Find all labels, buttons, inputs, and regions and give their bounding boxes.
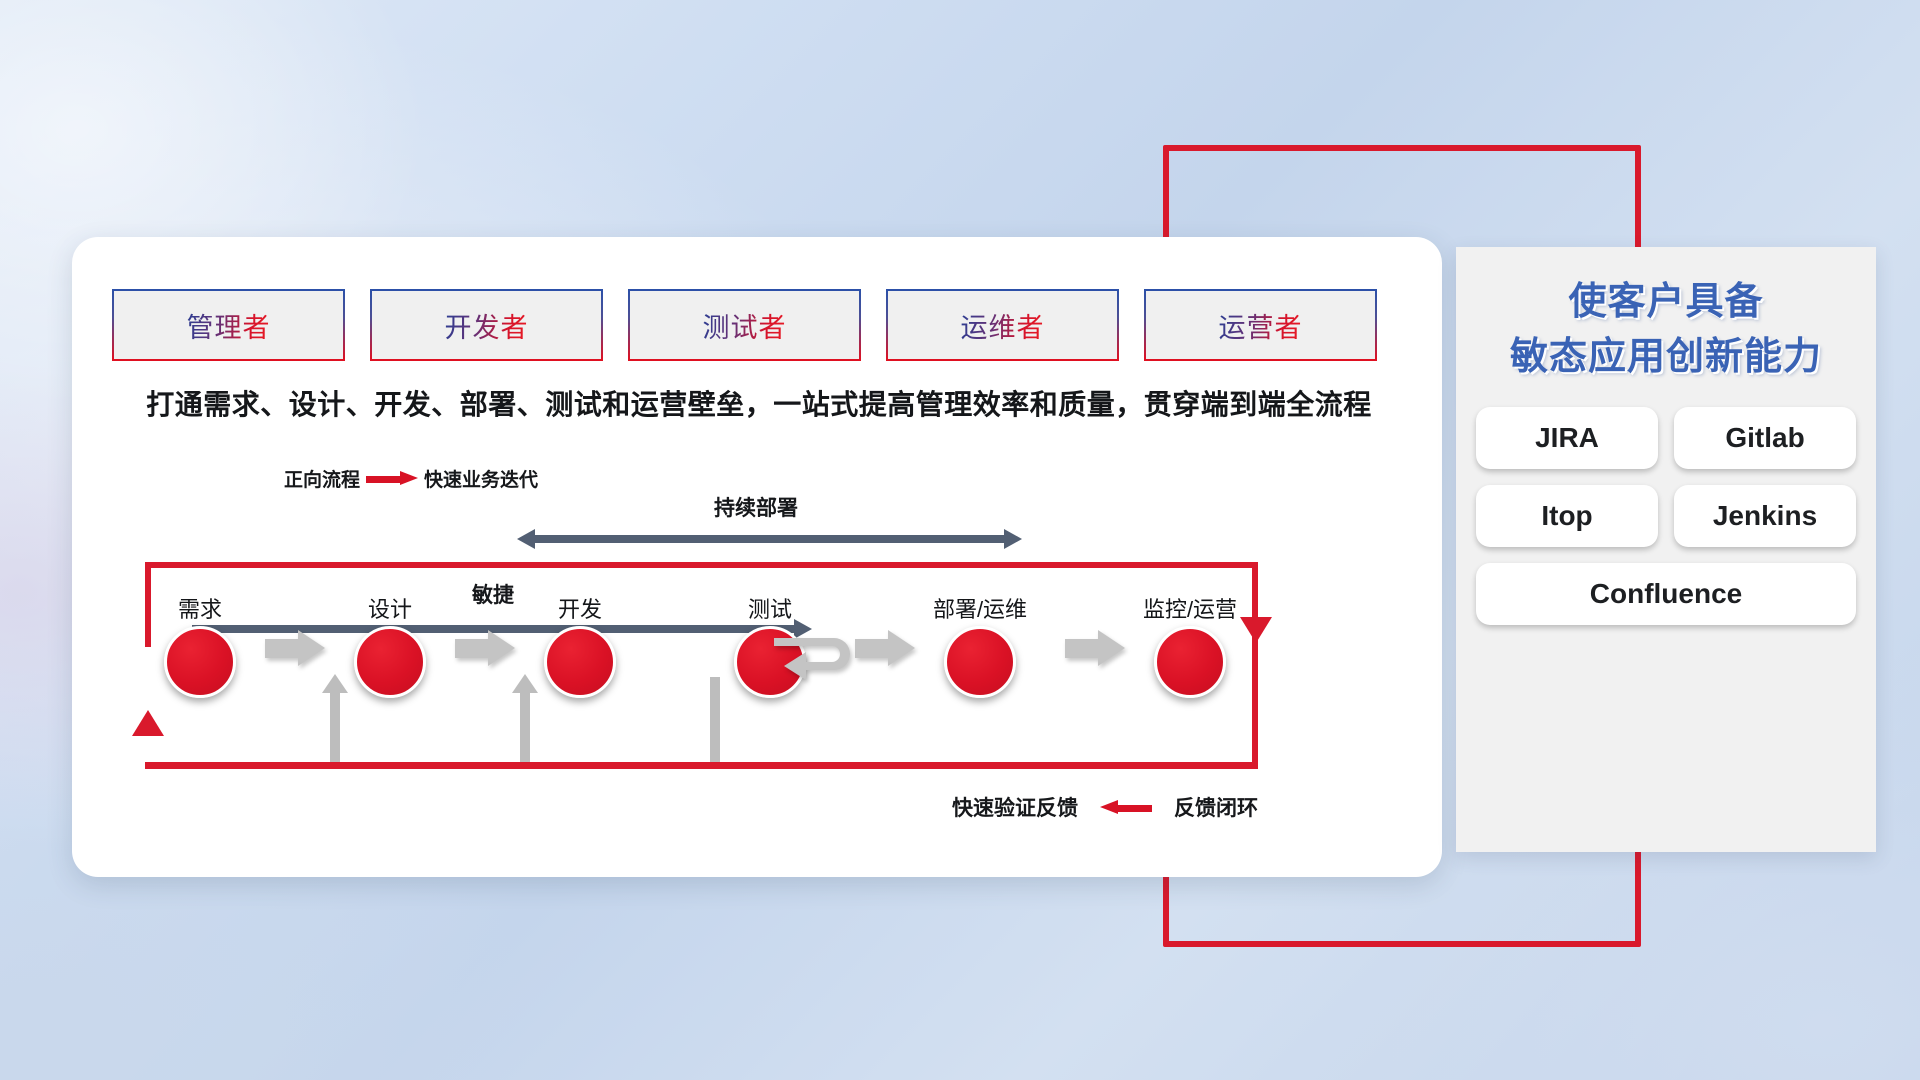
arrow-head — [488, 630, 515, 666]
stage-label: 测试 — [710, 592, 830, 624]
arrow-head-right-icon — [1004, 529, 1022, 549]
stage-dot — [164, 626, 236, 698]
legend-forward-flow: 正向流程 快速业务迭代 — [284, 465, 538, 492]
loopback-arrow-icon — [772, 626, 864, 688]
stage-label: 需求 — [140, 592, 260, 624]
arrow-shaft — [533, 535, 1006, 543]
arrow-head — [888, 630, 915, 666]
stage-requirement[interactable]: 需求 — [140, 592, 260, 698]
role-box-tester[interactable]: 测试者 — [628, 289, 861, 361]
span-label-continuous-deployment: 持续部署 — [714, 492, 798, 522]
arrow-head — [298, 630, 325, 666]
stage-design[interactable]: 设计 — [330, 592, 450, 698]
headline-text: 打通需求、设计、开发、部署、测试和运营壁垒，一站式提高管理效率和质量，贯穿端到端… — [114, 383, 1404, 423]
flow-arrow-5-icon — [1065, 630, 1129, 668]
tool-chip-jenkins[interactable]: Jenkins — [1674, 485, 1856, 547]
role-label: 运维者 — [961, 306, 1045, 345]
role-box-ops[interactable]: 运维者 — [886, 289, 1119, 361]
legend-forward-left-label: 正向流程 — [284, 465, 360, 492]
stage-monitor-operations[interactable]: 监控/运营 — [1130, 592, 1250, 698]
stage-dot — [1154, 626, 1226, 698]
arrow-right-icon — [366, 471, 418, 486]
process-loop-top-line — [145, 562, 1258, 568]
flow-arrow-1-icon — [265, 630, 329, 668]
arrow-shaft — [455, 639, 491, 658]
process-loop-bottom-line — [145, 762, 1258, 769]
legend-forward-right-label: 快速业务迭代 — [424, 465, 538, 492]
tool-chip-gitlab[interactable]: Gitlab — [1674, 407, 1856, 469]
legend-feedback-right-label: 反馈闭环 — [1174, 792, 1258, 822]
role-label: 运营者 — [1219, 306, 1303, 345]
stage-develop[interactable]: 开发 — [520, 592, 640, 698]
panel-title-line1: 使客户具备 — [1456, 275, 1876, 330]
stage-label: 部署/运维 — [920, 592, 1040, 624]
legend-feedback-loop: 快速验证反馈 反馈闭环 — [952, 792, 1258, 822]
value-proposition-panel: 使客户具备 敏态应用创新能力 JIRA Gitlab Itop Jenkins … — [1456, 247, 1876, 852]
arrow-shaft — [265, 639, 301, 658]
role-label: 开发者 — [445, 306, 529, 345]
stage-label: 开发 — [520, 592, 640, 624]
role-label: 管理者 — [187, 306, 271, 345]
span-arrow-continuous-deployment — [517, 529, 1022, 549]
panel-title-line2: 敏态应用创新能力 — [1456, 330, 1876, 385]
arrow-left-icon — [1100, 800, 1152, 815]
tool-chip-confluence[interactable]: Confluence — [1476, 563, 1856, 625]
main-diagram-card: 管理者 开发者 测试者 运维者 运营者 打通需求、设计、开发、部署、测试和运营壁… — [72, 237, 1442, 877]
tool-chip-itop[interactable]: Itop — [1476, 485, 1658, 547]
arrow-shaft — [1065, 639, 1101, 658]
stage-deploy-ops[interactable]: 部署/运维 — [920, 592, 1040, 698]
stage-dot — [544, 626, 616, 698]
role-box-row: 管理者 开发者 测试者 运维者 运营者 — [112, 289, 1377, 361]
pipeline-stage-row: 需求 设计 开发 测试 部署/运维 监控/运营 — [112, 592, 1402, 752]
stage-dot — [944, 626, 1016, 698]
tool-chip-jira[interactable]: JIRA — [1476, 407, 1658, 469]
flow-arrow-2-icon — [455, 630, 519, 668]
role-box-developer[interactable]: 开发者 — [370, 289, 603, 361]
arrow-head — [1098, 630, 1125, 666]
role-box-operations[interactable]: 运营者 — [1144, 289, 1377, 361]
role-label: 测试者 — [703, 306, 787, 345]
stage-label: 设计 — [330, 592, 450, 624]
flow-arrow-4-icon — [855, 630, 919, 668]
stage-dot — [354, 626, 426, 698]
tool-chip-grid: JIRA Gitlab Itop Jenkins Confluence — [1456, 407, 1876, 625]
panel-title: 使客户具备 敏态应用创新能力 — [1456, 247, 1876, 385]
stage-label: 监控/运营 — [1130, 592, 1250, 624]
role-box-manager[interactable]: 管理者 — [112, 289, 345, 361]
legend-feedback-left-label: 快速验证反馈 — [952, 792, 1078, 822]
